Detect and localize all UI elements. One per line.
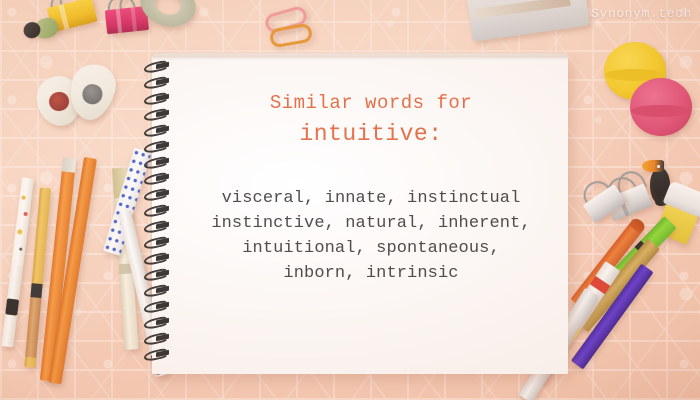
vignette-overlay: [0, 0, 700, 400]
screenshot-canvas: Similar words for intuitive: visceral, i…: [0, 0, 700, 400]
